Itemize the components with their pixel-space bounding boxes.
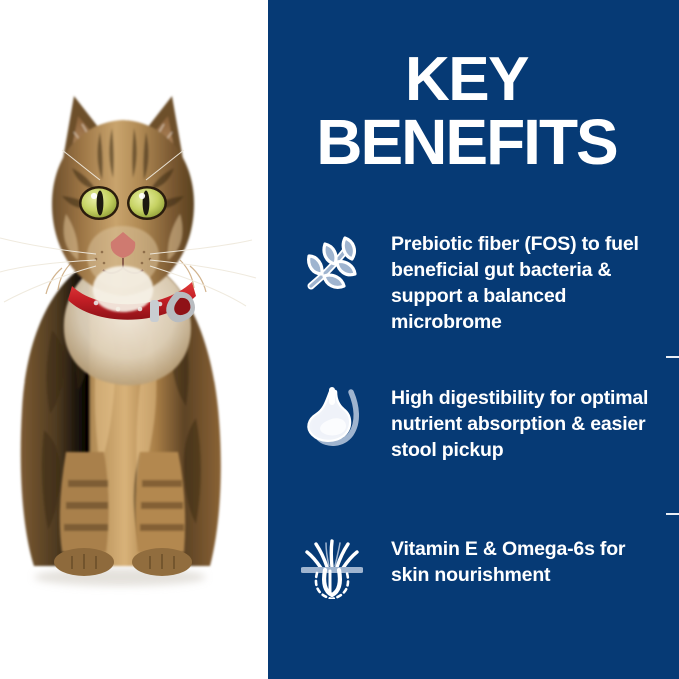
fiber-grain-icon — [301, 232, 363, 294]
page-title: KEY BENEFITS — [278, 50, 655, 173]
title-line-two: BENEFITS — [278, 111, 655, 174]
benefit-item-3: Vitamin E & Omega-6s for skin nourishmen… — [301, 537, 649, 599]
benefit-divider-2 — [666, 513, 679, 515]
cat-photo-panel — [0, 0, 268, 679]
cat-illustration — [0, 0, 268, 679]
benefit-text-3: Vitamin E & Omega-6s for skin nourishmen… — [391, 537, 649, 589]
hair-follicle-skin-icon — [301, 537, 363, 599]
benefit-text-2: High digestibility for optimal nutrient … — [391, 386, 649, 464]
benefit-item-2: High digestibility for optimal nutrient … — [301, 386, 649, 464]
benefit-item-1: Prebiotic fiber (FOS) to fuel beneficial… — [301, 232, 649, 336]
benefits-panel: KEY BENEFITS — [268, 0, 679, 679]
benefit-text-1: Prebiotic fiber (FOS) to fuel beneficial… — [391, 232, 649, 336]
cat-photo — [0, 0, 268, 679]
benefit-divider-1 — [666, 356, 679, 358]
key-benefits-product-panel: KEY BENEFITS — [0, 0, 679, 679]
title-line-one: KEY — [278, 50, 655, 111]
stomach-digestion-icon — [301, 386, 363, 448]
